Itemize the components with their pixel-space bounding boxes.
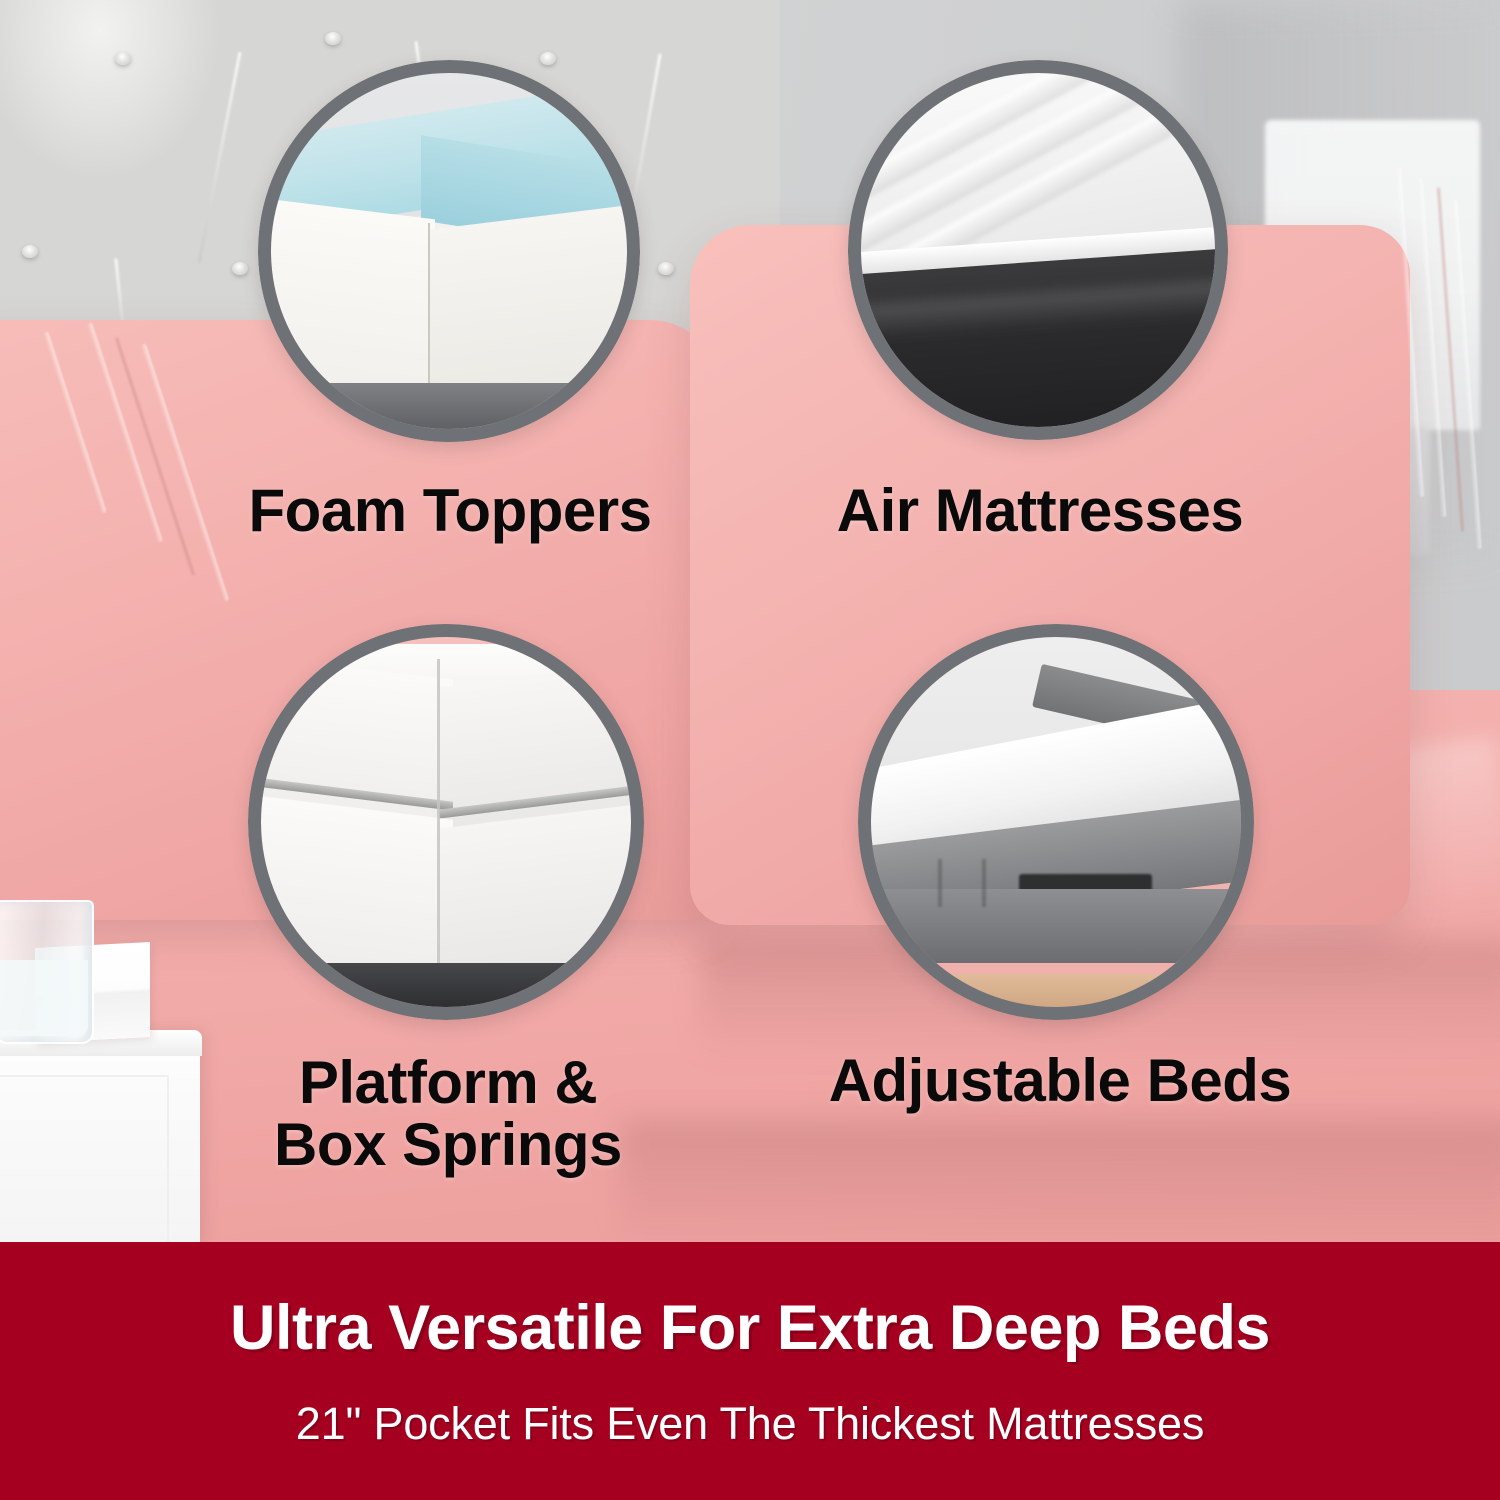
air-mattress-photo xyxy=(861,73,1215,427)
box-spring-left-face xyxy=(261,794,453,990)
callout-foam-toppers xyxy=(258,60,640,442)
bed-frame-base xyxy=(283,963,572,1007)
box-spring-corner-edge xyxy=(437,659,440,970)
base-pleat xyxy=(982,859,986,907)
base-pleat xyxy=(938,859,942,907)
banner-subheadline: 21" Pocket Fits Even The Thickest Mattre… xyxy=(296,1398,1204,1450)
mattress-base xyxy=(271,383,627,429)
headboard-tuft xyxy=(115,52,131,65)
callout-air-mattresses xyxy=(848,60,1228,440)
banner-headline: Ultra Versatile For Extra Deep Beds xyxy=(230,1292,1270,1364)
adjustable-bed-photo xyxy=(871,637,1241,1007)
nightstand-drawer-panel xyxy=(0,1075,169,1249)
water-glass-fill xyxy=(0,960,88,1036)
wood-floor xyxy=(908,974,1204,1007)
headboard-tuft xyxy=(232,262,248,275)
sheet-shadow xyxy=(620,1120,1500,1250)
box-spring-photo xyxy=(261,637,631,1007)
headboard-tuft xyxy=(540,52,556,65)
callout-platform-box-springs xyxy=(248,624,644,1020)
foam-topper-photo xyxy=(271,73,627,429)
callout-label-platform-box-springs: Platform & Box Springs xyxy=(168,1052,728,1177)
headboard-tuft xyxy=(658,262,674,275)
headboard-tuft xyxy=(22,245,38,258)
callout-label-adjustable-beds: Adjustable Beds xyxy=(760,1050,1360,1112)
mattress-left-face xyxy=(271,197,435,405)
headboard-tuft xyxy=(325,32,341,45)
callout-label-foam-toppers: Foam Toppers xyxy=(145,480,755,542)
product-marketing-image: Foam Toppers Air Mattresses xyxy=(0,0,1500,1500)
bottom-banner: Ultra Versatile For Extra Deep Beds 21" … xyxy=(0,1242,1500,1500)
adjustable-base-lower xyxy=(871,889,1241,963)
callout-label-air-mattresses: Air Mattresses xyxy=(760,480,1320,542)
mattress-corner-edge xyxy=(428,223,430,394)
callout-adjustable-beds xyxy=(858,624,1254,1020)
